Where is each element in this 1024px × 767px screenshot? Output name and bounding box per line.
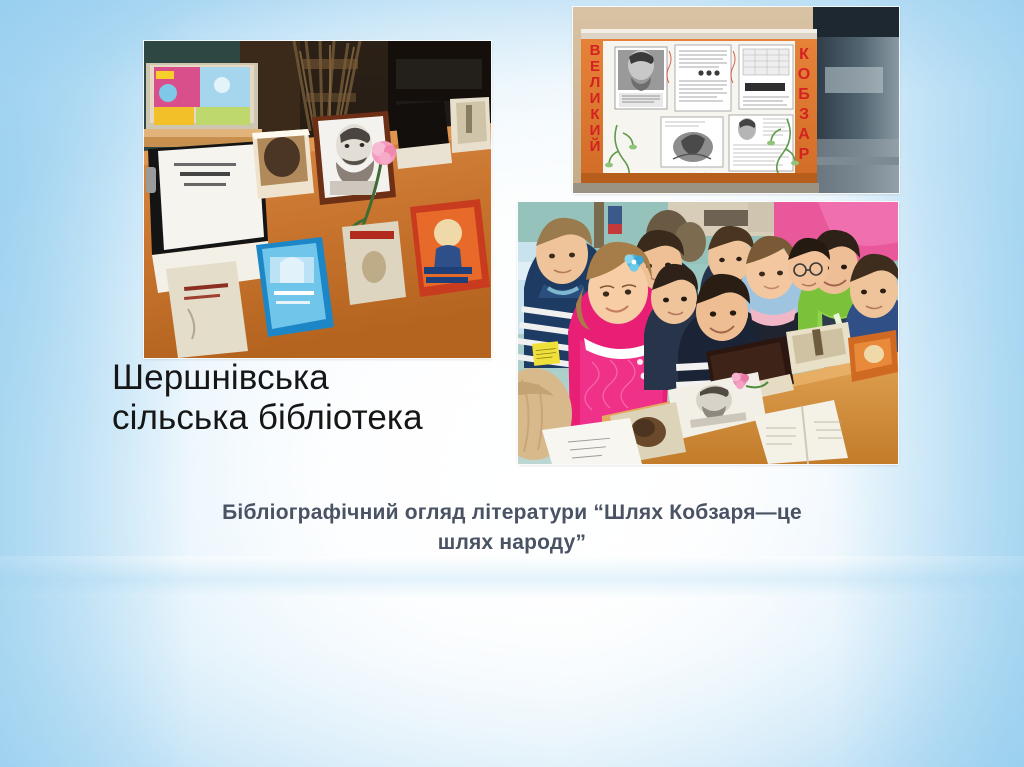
- svg-text:Л: Л: [590, 74, 601, 91]
- svg-text:З: З: [799, 106, 809, 123]
- photo-children-image: [518, 202, 898, 464]
- page-subtitle: Бібліографічний огляд літератури “Шлях К…: [182, 498, 842, 558]
- photo-wall-display: В Е Л И К И Й К О Б З А Р: [573, 7, 899, 193]
- svg-text:О: О: [798, 66, 810, 83]
- svg-text:И: И: [590, 122, 601, 139]
- photo-children: [518, 202, 898, 464]
- photo-wall-display-image: В Е Л И К И Й К О Б З А Р: [573, 7, 899, 193]
- svg-text:Й: Й: [590, 137, 601, 155]
- title-line-1: Шершнівська: [112, 358, 542, 398]
- svg-text:А: А: [798, 126, 810, 143]
- subtitle-line-1: Бібліографічний огляд літератури “Шлях К…: [182, 498, 842, 528]
- title-line-2: сільська бібліотека: [112, 398, 542, 438]
- svg-text:В: В: [590, 42, 601, 59]
- photo-exhibit-table-image: [144, 41, 491, 358]
- svg-text:Р: Р: [799, 146, 810, 163]
- page-title: Шершнівська сільська бібліотека: [112, 358, 542, 438]
- svg-text:К: К: [799, 46, 809, 63]
- subtitle-line-2: шлях народу”: [182, 528, 842, 558]
- photo-exhibit-table: [144, 41, 491, 358]
- svg-text:И: И: [590, 90, 601, 107]
- presentation-slide: В Е Л И К И Й К О Б З А Р: [0, 0, 1024, 767]
- svg-text:Б: Б: [798, 86, 810, 103]
- svg-text:Е: Е: [590, 58, 600, 75]
- svg-text:К: К: [590, 106, 600, 123]
